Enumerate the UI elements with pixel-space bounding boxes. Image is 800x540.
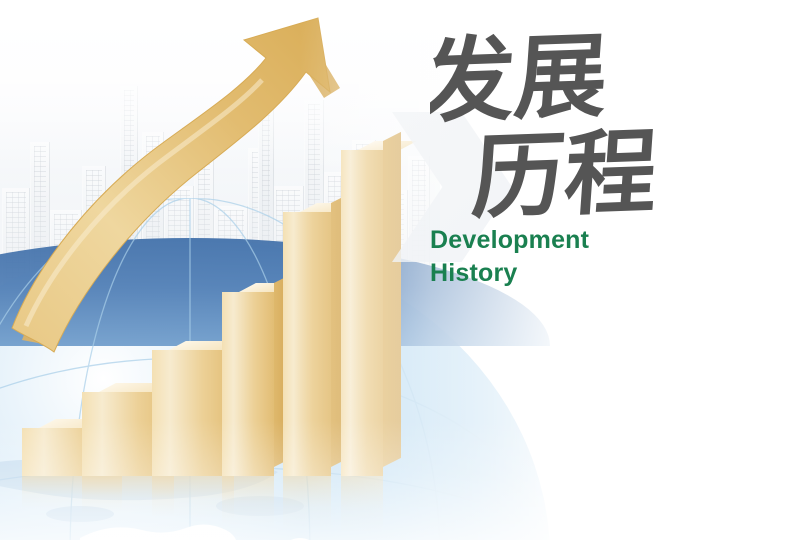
english-title-line-1: Development (430, 224, 770, 257)
english-title: Development History (430, 224, 770, 290)
english-title-line-2: History (430, 257, 770, 290)
calligraphy-title: 发展 历程 (430, 22, 700, 222)
calligraphy-line-1: 发展 (430, 22, 611, 136)
arrow-body (12, 18, 330, 352)
headline-block: 发展 历程 Development History (430, 22, 770, 290)
development-history-banner: 发展 历程 Development History (0, 0, 800, 540)
bottom-fade-overlay (0, 420, 800, 540)
calligraphy-line-2: 历程 (469, 118, 661, 222)
